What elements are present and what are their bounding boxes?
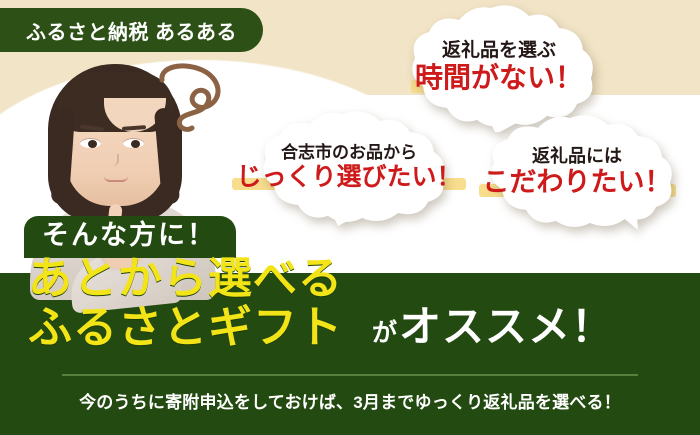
promo-banner: ふるさと納税 あるある 返礼品を選ぶ 時間がない！ 合志市のお品から [0, 0, 700, 435]
model-pupil-left [88, 140, 97, 148]
squiggle-doodle-icon [150, 58, 240, 138]
recommend-particle: が [372, 313, 397, 349]
header-badge-label: ふるさと納税 あるある [26, 16, 237, 45]
lead-text-label: そんな方に！ [42, 220, 216, 250]
speech-bubble-kourushi: 合志市のお品から じっくり選びたい！ [236, 108, 462, 226]
header-badge: ふるさと納税 あるある [0, 8, 263, 52]
footer-note: 今のうちに寄附申込をしておけば、3月までゆっくり返礼品を選べる！ [0, 388, 700, 413]
cloud-shape-icon [236, 108, 462, 226]
cloud-shape-icon [466, 112, 688, 232]
speech-bubble-kodawari: 返礼品には こだわりたい！ [466, 112, 688, 232]
footer-divider [62, 374, 638, 376]
headline-line-2: ふるさとギフト [28, 304, 343, 351]
model-mouth [104, 176, 128, 182]
headline-line-1: あとから選べる [28, 255, 343, 302]
recommend-phrase: が オススメ！ [372, 293, 614, 354]
recommend-word: オススメ！ [399, 293, 614, 354]
model-eye-right [123, 138, 144, 148]
footer-note-label: 今のうちに寄附申込をしておけば、3月までゆっくり返礼品を選べる！ [79, 393, 621, 412]
model-pupil-right [131, 140, 140, 148]
model-eye-left [80, 138, 101, 148]
main-headline: あとから選べる ふるさとギフト [28, 255, 343, 351]
lead-text-blob: そんな方に！ [24, 216, 236, 258]
